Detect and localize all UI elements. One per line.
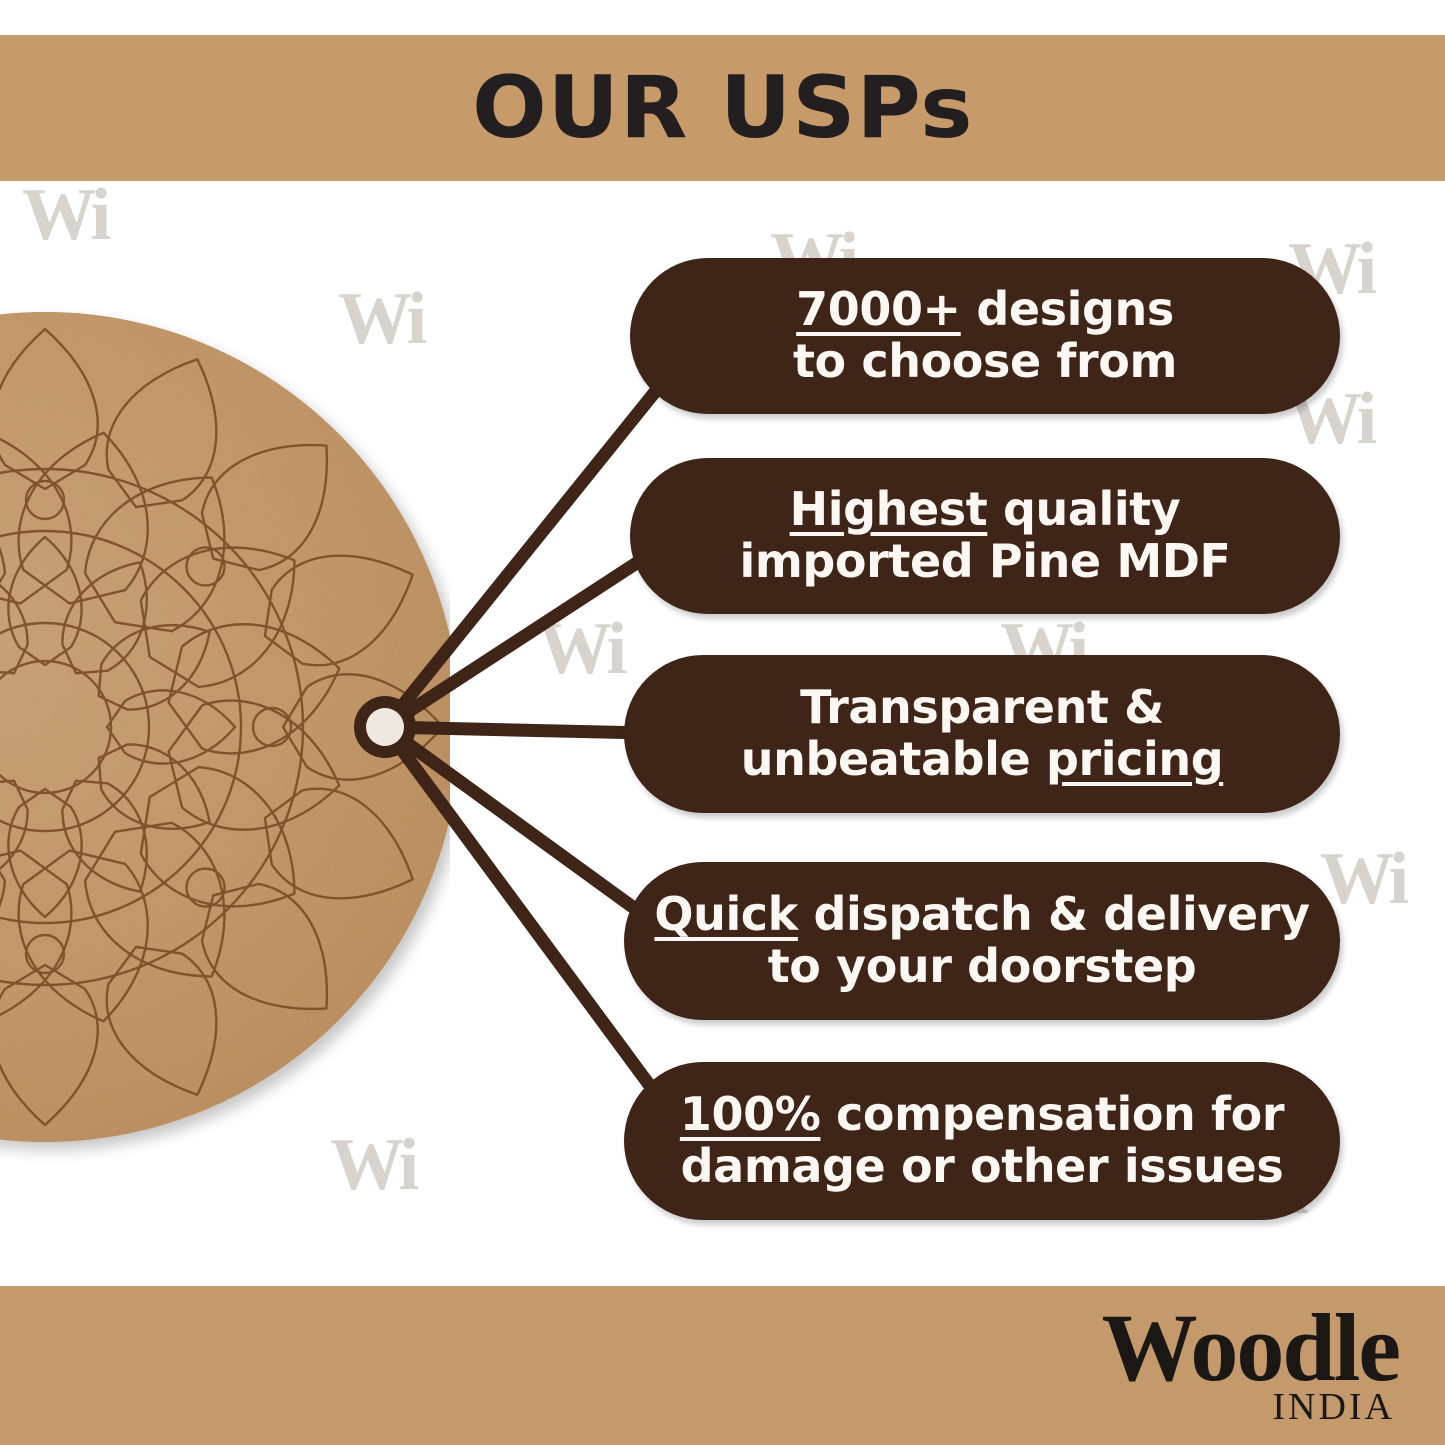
usp-text-plain: dispatch & delivery bbox=[798, 887, 1310, 941]
usp-pill[interactable]: 7000+ designsto choose from bbox=[630, 258, 1340, 414]
usp-text-plain: to choose from bbox=[793, 334, 1177, 388]
usp-text-plain: quality bbox=[987, 482, 1180, 536]
usp-text-emphasis: pricing bbox=[1046, 732, 1223, 786]
header-band: OUR USPs bbox=[0, 35, 1445, 181]
usp-pill-line: unbeatable pricing bbox=[741, 734, 1224, 786]
usp-text-plain: to your doorstep bbox=[768, 939, 1197, 993]
usp-pill[interactable]: Quick dispatch & deliveryto your doorste… bbox=[624, 862, 1340, 1020]
usp-text-plain: damage or other issues bbox=[681, 1139, 1284, 1193]
usp-pill-line: to your doorstep bbox=[768, 941, 1197, 993]
usp-pill-line: Highest quality bbox=[790, 484, 1181, 536]
usp-pill-line: Transparent & bbox=[800, 682, 1164, 734]
brand-name: Woodle bbox=[1102, 1300, 1399, 1396]
usp-text-emphasis: 100% bbox=[680, 1087, 821, 1141]
usp-pill-line: 7000+ designs bbox=[796, 284, 1174, 336]
usp-text-plain: imported Pine MDF bbox=[739, 534, 1230, 588]
usp-pill-line: imported Pine MDF bbox=[739, 536, 1230, 588]
usp-pill[interactable]: Transparent &unbeatable pricing bbox=[624, 655, 1340, 813]
usp-pill[interactable]: 100% compensation fordamage or other iss… bbox=[624, 1062, 1340, 1220]
usp-pill[interactable]: Highest qualityimported Pine MDF bbox=[630, 458, 1340, 614]
usp-text-emphasis: Highest bbox=[790, 482, 988, 536]
infographic-canvas: WiWiWiWiWiWiWiWiWiWiWi bbox=[0, 0, 1445, 1445]
usp-pill-line: 100% compensation for bbox=[680, 1089, 1284, 1141]
usp-text-plain: Transparent & bbox=[800, 680, 1164, 734]
usp-pill-line: Quick dispatch & delivery bbox=[654, 889, 1309, 941]
usp-text-plain: unbeatable bbox=[741, 732, 1046, 786]
usp-pill-list: 7000+ designsto choose fromHighest quali… bbox=[0, 0, 1445, 1445]
usp-text-emphasis: 7000+ bbox=[796, 282, 961, 336]
usp-text-emphasis: Quick bbox=[654, 887, 797, 941]
usp-pill-line: damage or other issues bbox=[681, 1141, 1284, 1193]
usp-text-plain: designs bbox=[961, 282, 1174, 336]
usp-pill-line: to choose from bbox=[793, 336, 1177, 388]
footer-band: Woodle INDIA bbox=[0, 1286, 1445, 1445]
usp-text-plain: compensation for bbox=[820, 1087, 1284, 1141]
brand-logo: Woodle INDIA bbox=[1102, 1300, 1399, 1426]
page-title: OUR USPs bbox=[472, 58, 973, 158]
